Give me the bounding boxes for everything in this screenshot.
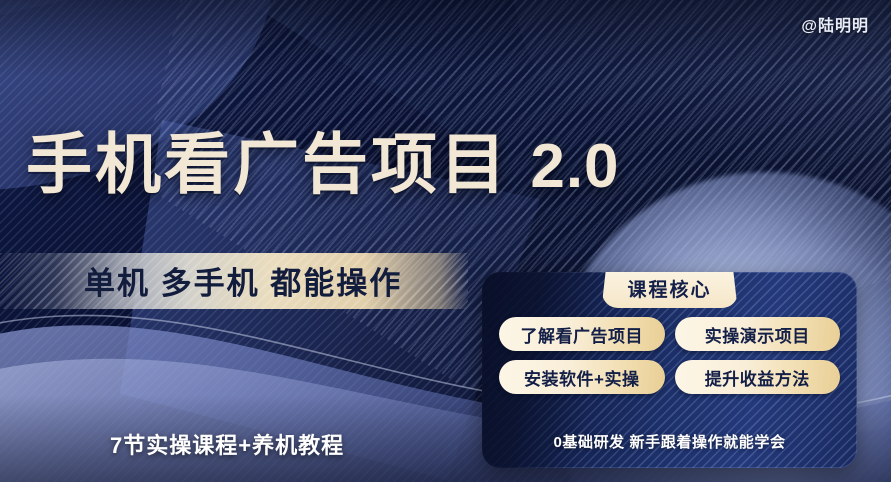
course-core-panel: 课程核心 了解看广告项目 实操演示项目 安装软件+实操 提升收益方法 0基础研发… [482, 272, 857, 468]
author-watermark: @陆明明 [801, 12, 869, 36]
page-title-main: 手机看广告项目 [26, 127, 509, 201]
page-title-version: 2.0 [530, 132, 619, 201]
course-core-header: 课程核心 [601, 272, 737, 308]
page-title: 手机看广告项目 2.0 [26, 131, 816, 198]
course-core-badge[interactable]: 安装软件+实操 [499, 360, 665, 394]
promo-poster: @陆明明 手机看广告项目 2.0 单机 多手机 都能操作 7节实操课程+养机教程… [0, 0, 891, 482]
course-core-badge[interactable]: 实操演示项目 [675, 317, 841, 351]
course-core-footnote: 0基础研发 新手跟着操作就能学会 [482, 431, 857, 452]
subtitle-text: 单机 多手机 都能操作 [84, 258, 402, 303]
course-count-note: 7节实操课程+养机教程 [110, 428, 344, 460]
course-core-badge-grid: 了解看广告项目 实操演示项目 安装软件+实操 提升收益方法 [482, 317, 857, 394]
course-core-badge[interactable]: 了解看广告项目 [499, 317, 665, 351]
course-core-badge[interactable]: 提升收益方法 [675, 360, 841, 394]
